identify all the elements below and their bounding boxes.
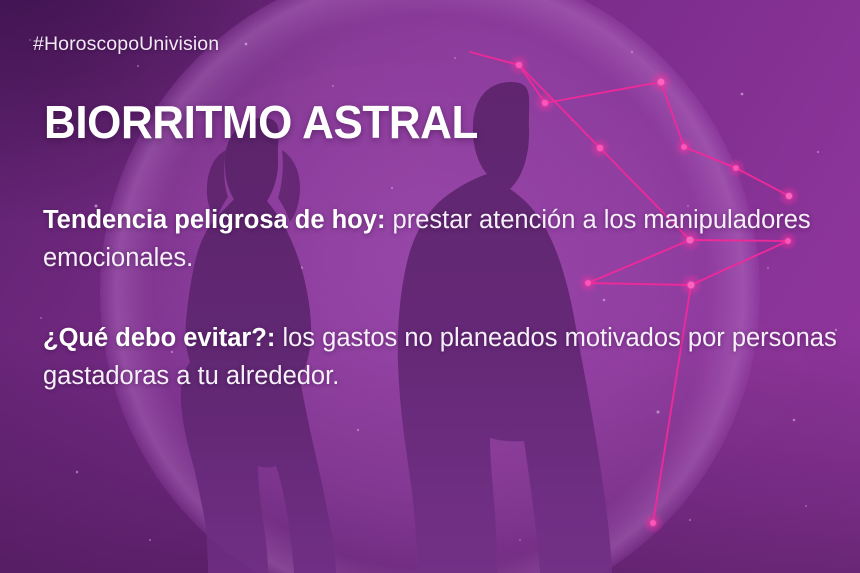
body-paragraph-1: Tendencia peligrosa de hoy: prestar aten…: [43, 201, 843, 277]
body-paragraph-1-lead: Tendencia peligrosa de hoy:: [43, 206, 385, 234]
hashtag-label: #HoroscopoUnivision: [33, 33, 219, 56]
page-title: BIORRITMO ASTRAL: [44, 96, 478, 148]
body-paragraph-2-lead: ¿Qué debo evitar?:: [43, 324, 275, 352]
text-content: #HoroscopoUnivision BIORRITMO ASTRAL Ten…: [0, 0, 860, 573]
body-paragraph-2: ¿Qué debo evitar?: los gastos no planead…: [43, 319, 843, 395]
horoscope-card: #HoroscopoUnivision BIORRITMO ASTRAL Ten…: [0, 0, 860, 573]
